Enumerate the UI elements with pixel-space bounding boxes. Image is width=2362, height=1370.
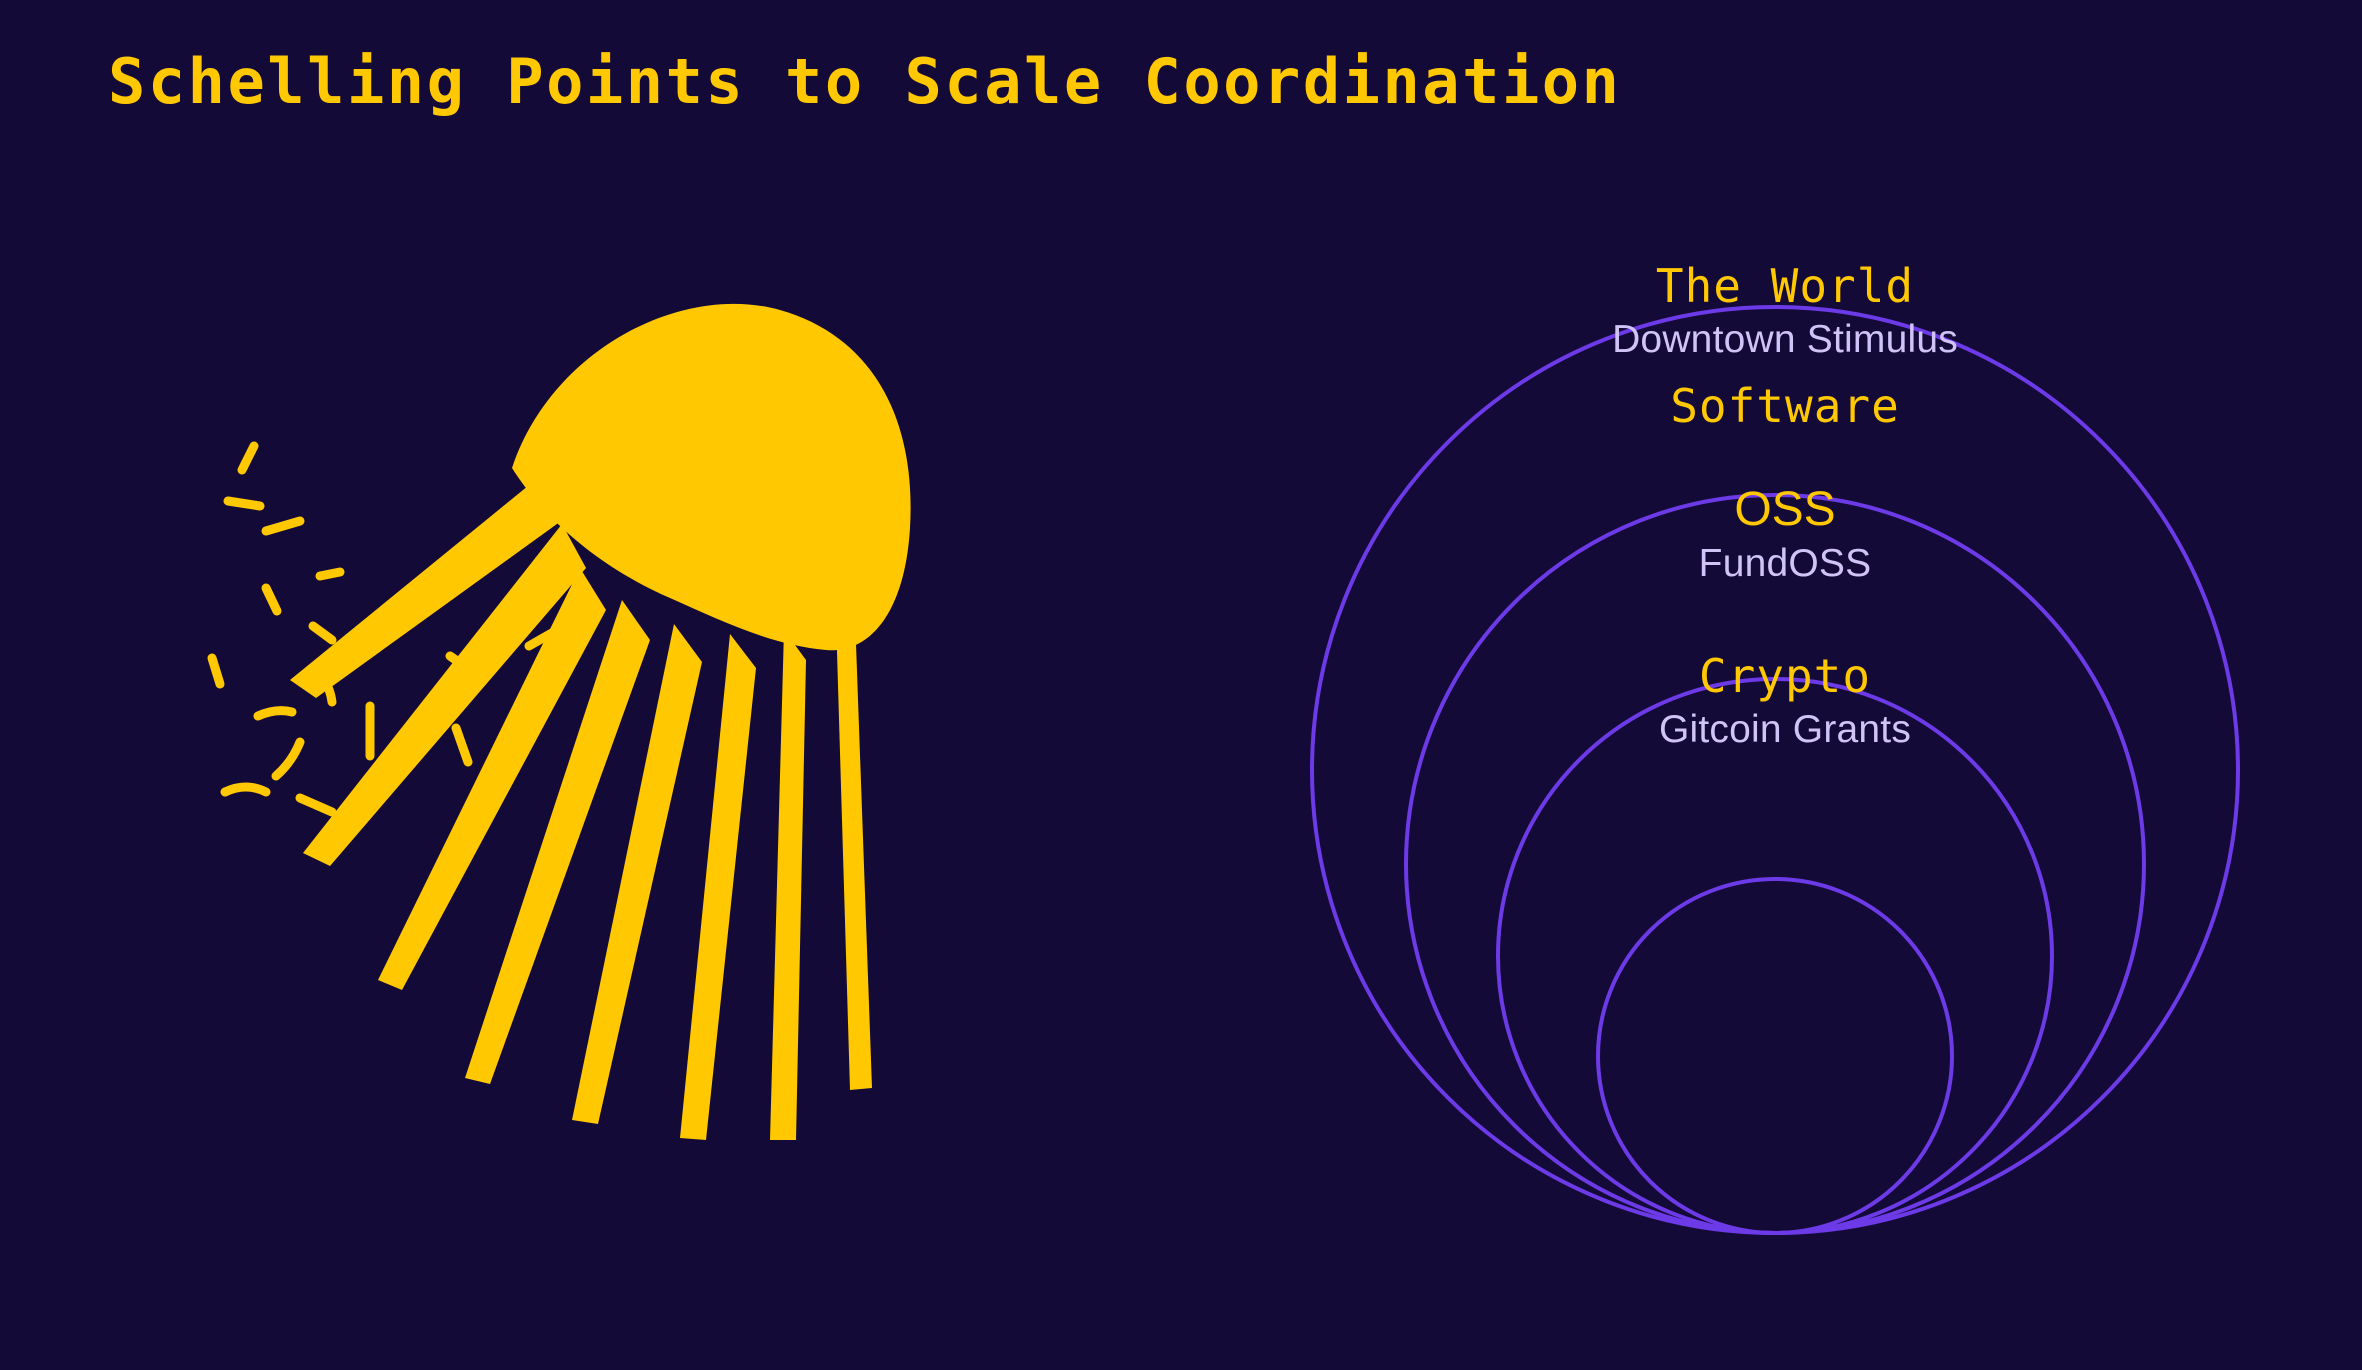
spark-dash-3 — [266, 521, 300, 531]
spark-dash-9 — [258, 711, 292, 716]
spark-dash-8 — [319, 672, 332, 702]
spark-dash-13 — [456, 728, 468, 762]
spark-dash-11 — [450, 656, 472, 684]
page-title: Schelling Points to Scale Coordination — [108, 48, 1621, 116]
ring-circle-software — [1406, 495, 2144, 1233]
scattered-spark-dashes — [180, 400, 740, 820]
spark-dash-2 — [228, 501, 260, 506]
comet-ray-7 — [770, 630, 806, 1140]
spark-dash-4 — [320, 572, 340, 576]
spark-dash-1 — [242, 446, 254, 470]
spark-dash-7 — [212, 658, 220, 684]
spark-dash-14 — [276, 742, 300, 776]
spark-dash-12 — [529, 626, 564, 646]
comet-ray-8 — [836, 618, 872, 1090]
spark-dash-16 — [300, 798, 332, 812]
ring-circle-world — [1312, 307, 2238, 1233]
spark-dash-15 — [225, 787, 266, 792]
ring-circle-crypto — [1598, 879, 1952, 1233]
ring-circle-oss — [1498, 679, 2052, 1233]
spark-dash-6 — [313, 626, 332, 640]
spark-dash-5 — [266, 588, 277, 611]
nested-scope-circles: The World Downtown Stimulus Software OSS… — [1280, 280, 2290, 1270]
slide-canvas: Schelling Points to Scale Coordination — [0, 0, 2362, 1370]
